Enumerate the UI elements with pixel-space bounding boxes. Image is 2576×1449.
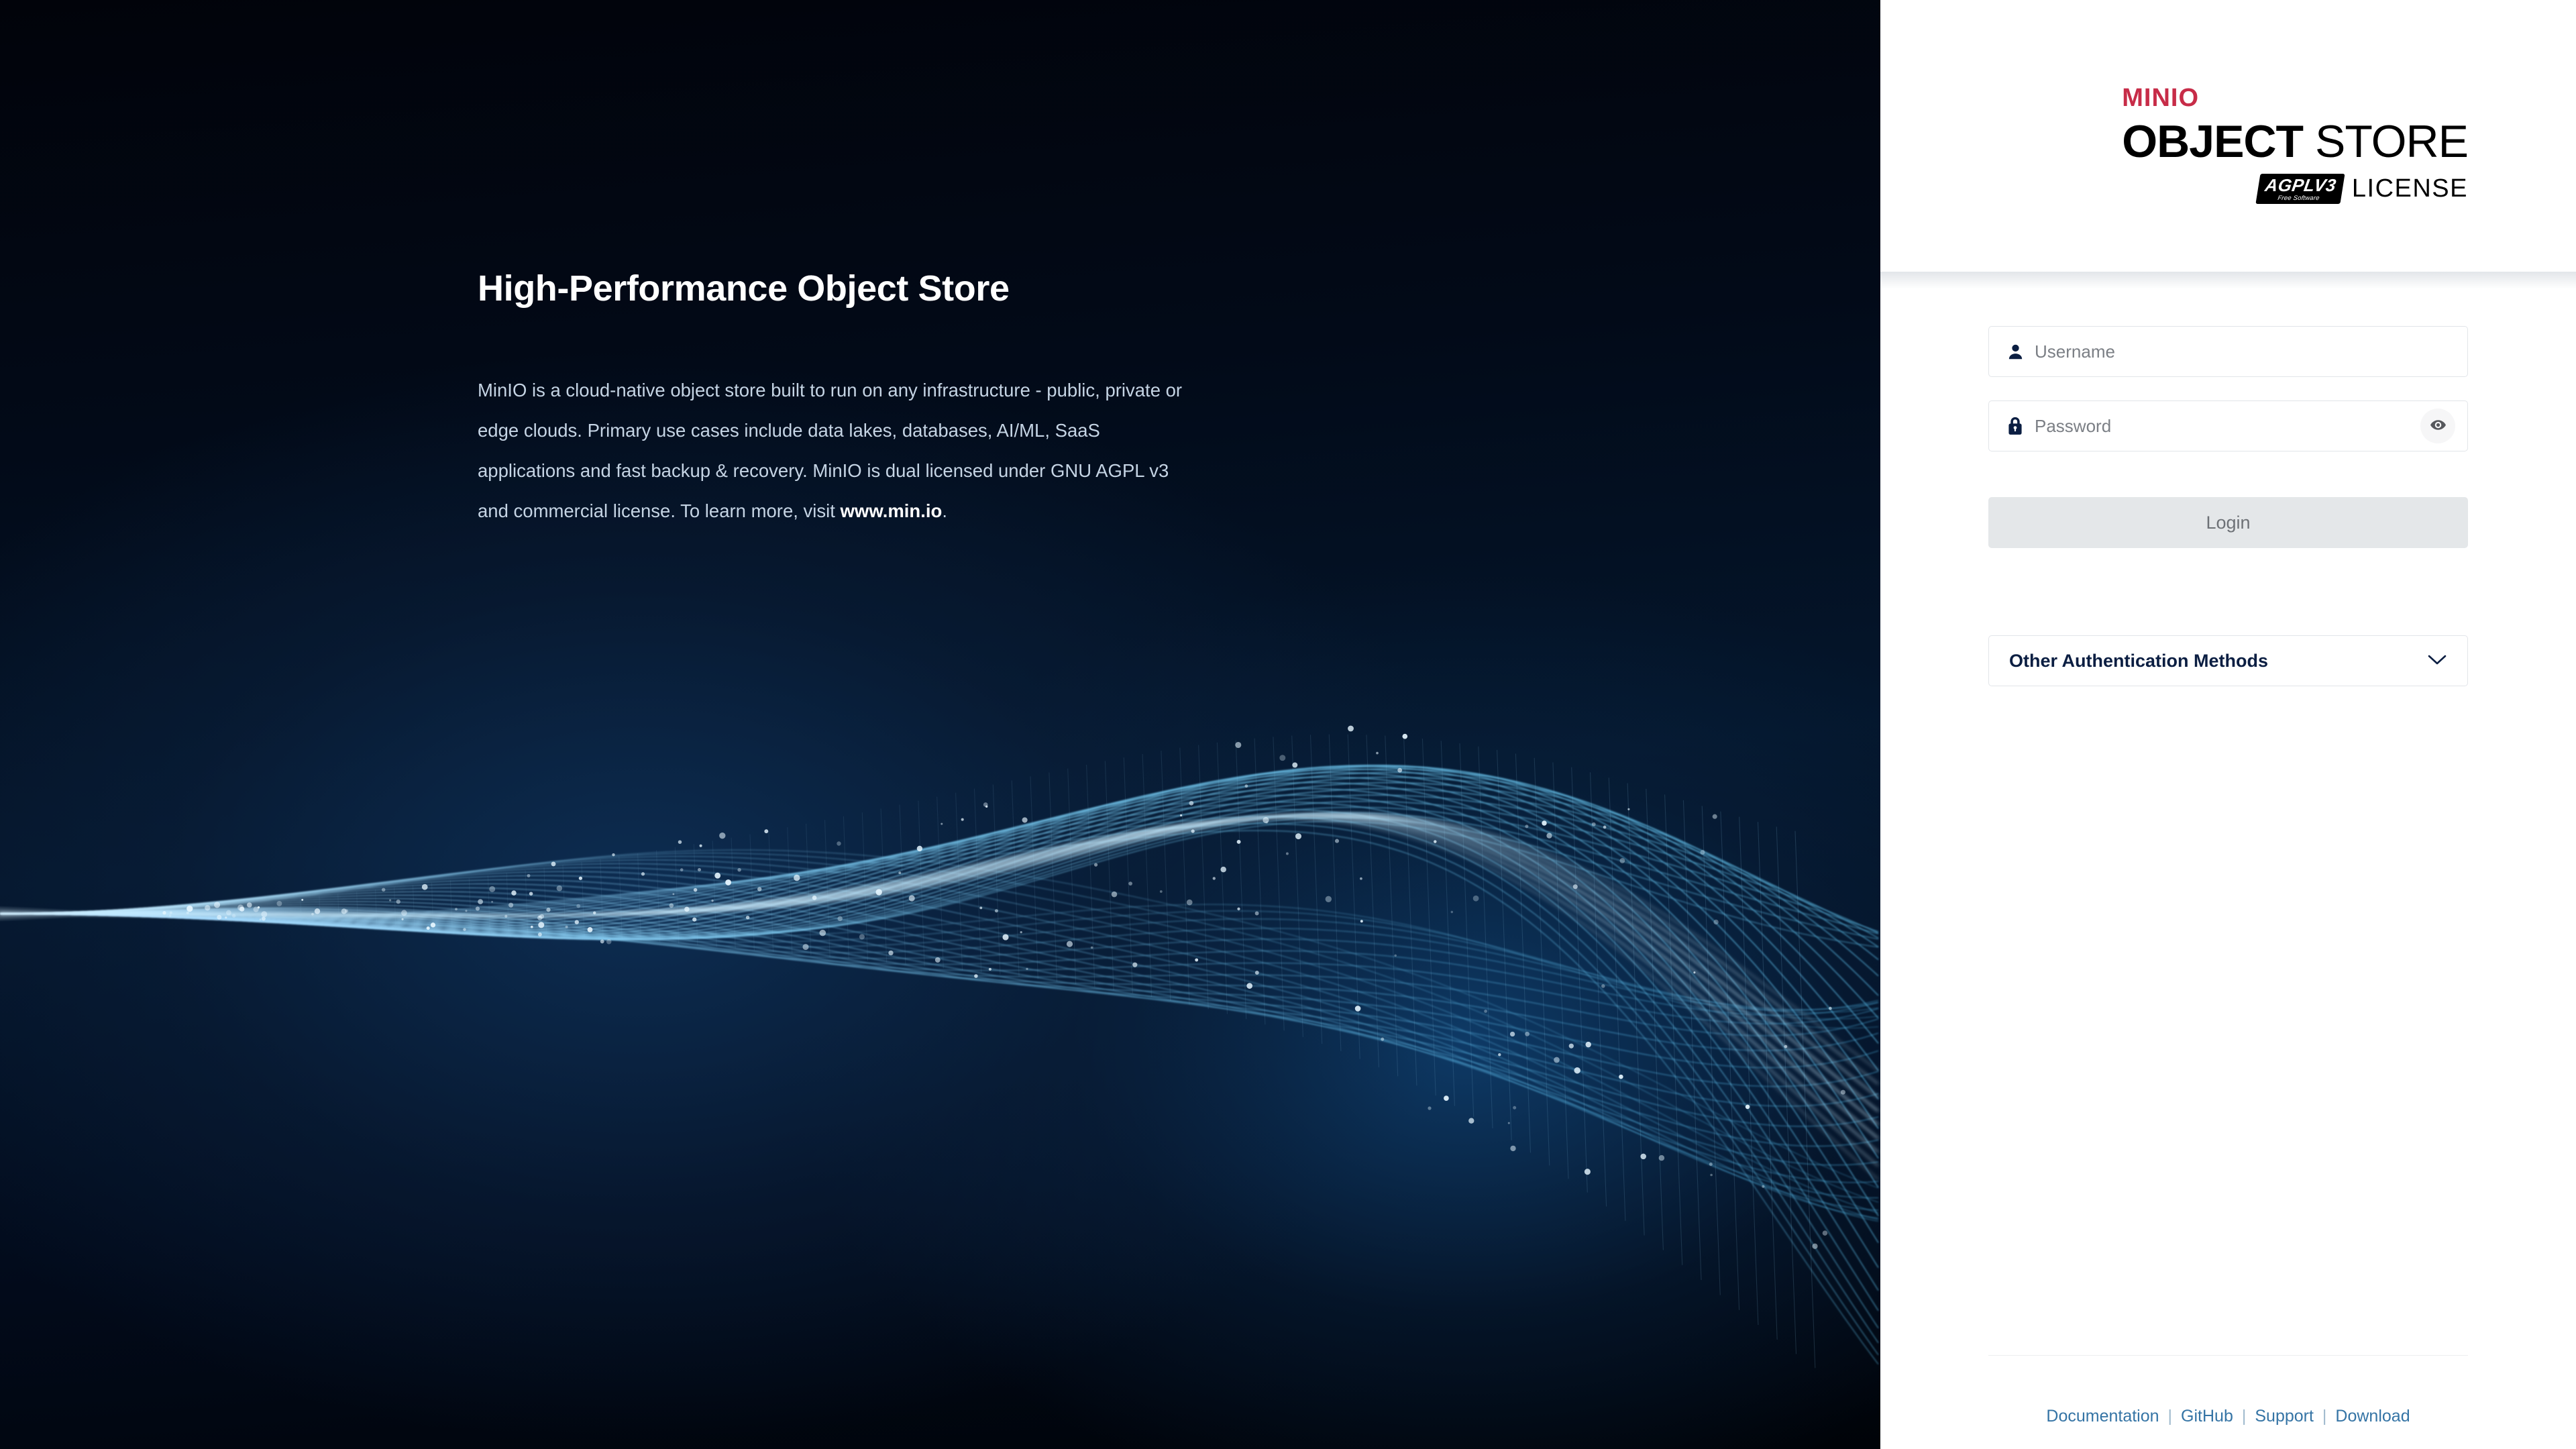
- minio-logo: MINIO: [2122, 85, 2199, 111]
- footer-divider: [1988, 1355, 2468, 1356]
- footer-links: Documentation | GitHub | Support | Downl…: [1988, 1407, 2468, 1426]
- lock-icon: [2006, 417, 2031, 435]
- hero-description-tail: .: [942, 500, 947, 521]
- login-screen: High-Performance Object Store MinIO is a…: [0, 0, 2576, 1449]
- wave-graphic: [0, 0, 1880, 1449]
- hero-panel: High-Performance Object Store MinIO is a…: [0, 0, 1880, 1449]
- footer-separator-2: |: [2242, 1407, 2247, 1426]
- password-input[interactable]: [2031, 416, 2420, 437]
- other-authentication-methods-dropdown[interactable]: Other Authentication Methods: [1988, 635, 2468, 686]
- other-auth-label: Other Authentication Methods: [2009, 651, 2268, 672]
- agpl-badge-title: AGPLV3: [2264, 176, 2338, 194]
- product-name: OBJECT STORE: [2122, 119, 2468, 164]
- agpl-badge: AGPLV3 Free Software: [2256, 174, 2345, 204]
- login-panel: MINIO OBJECT STORE AGPLV3 Free Software …: [1880, 0, 2576, 1449]
- brand-header: MINIO OBJECT STORE AGPLV3 Free Software …: [1880, 0, 2576, 288]
- hero-description: MinIO is a cloud-native object store bui…: [478, 370, 1195, 531]
- person-icon: [2006, 343, 2031, 361]
- footer-link-download[interactable]: Download: [2335, 1407, 2410, 1426]
- license-label: LICENSE: [2352, 174, 2468, 203]
- product-name-object: OBJECT: [2122, 116, 2303, 167]
- footer: Documentation | GitHub | Support | Downl…: [1988, 1355, 2468, 1426]
- footer-link-github[interactable]: GitHub: [2181, 1407, 2233, 1426]
- chevron-down-icon: [2427, 653, 2447, 669]
- eye-icon: [2430, 417, 2447, 435]
- username-field[interactable]: [1988, 326, 2468, 377]
- login-button[interactable]: Login: [1988, 497, 2468, 548]
- license-lockup: AGPLV3 Free Software LICENSE: [2258, 174, 2468, 204]
- footer-link-documentation[interactable]: Documentation: [2046, 1407, 2159, 1426]
- footer-separator-1: |: [2168, 1407, 2173, 1426]
- login-form: Login Other Authentication Methods: [1880, 326, 2576, 686]
- password-field[interactable]: [1988, 400, 2468, 451]
- agpl-badge-subtitle: Free Software: [2277, 195, 2320, 202]
- hero-text-block: High-Performance Object Store MinIO is a…: [478, 268, 1269, 531]
- username-input[interactable]: [2031, 341, 2455, 362]
- toggle-password-visibility-button[interactable]: [2420, 409, 2455, 443]
- minio-website-link[interactable]: www.min.io: [841, 500, 943, 521]
- footer-separator-3: |: [2322, 1407, 2327, 1426]
- footer-link-support[interactable]: Support: [2255, 1407, 2314, 1426]
- hero-description-text: MinIO is a cloud-native object store bui…: [478, 380, 1182, 521]
- page-title: High-Performance Object Store: [478, 268, 1269, 309]
- brand-lockup: MINIO OBJECT STORE AGPLV3 Free Software …: [2122, 85, 2468, 204]
- product-name-store: STORE: [2303, 116, 2468, 167]
